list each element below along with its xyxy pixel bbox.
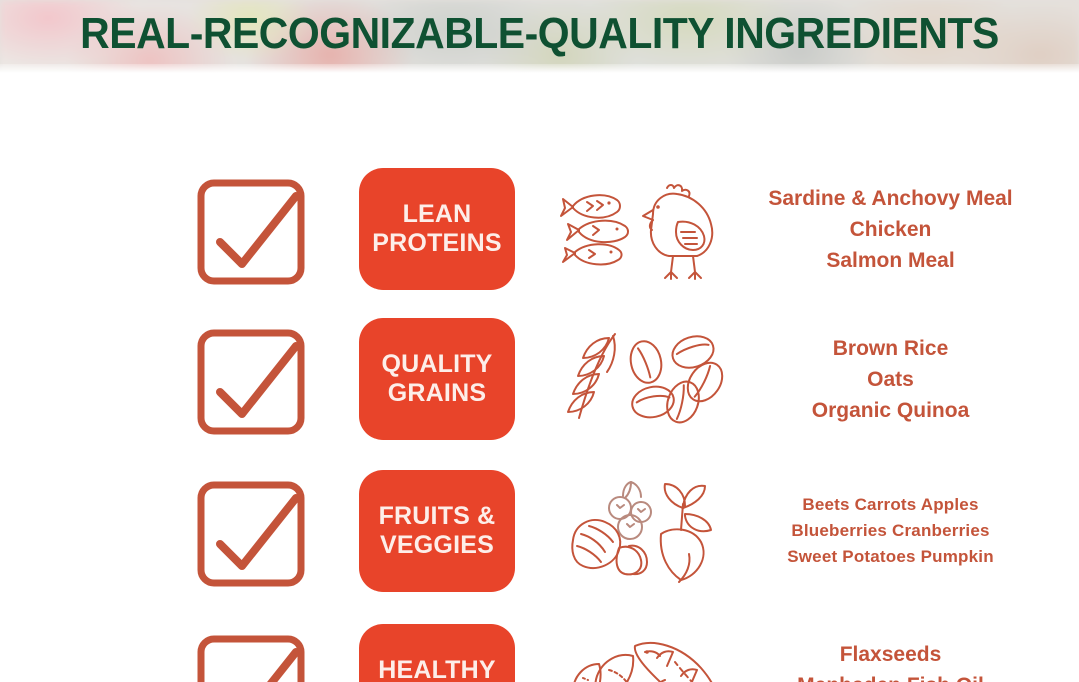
checkbox-cell: [192, 320, 352, 438]
category-badge-quality-grains: QUALITY GRAINS: [359, 318, 515, 440]
badge-line-1: LEAN: [372, 200, 501, 229]
ingredient-item: Chicken: [850, 214, 932, 245]
badge-line-1: FRUITS &: [379, 502, 496, 531]
badge-cell: HEALTHY FATS: [352, 624, 522, 682]
ingredient-item: Flaxseeds: [840, 639, 942, 670]
badge-cell: QUALITY GRAINS: [352, 318, 522, 440]
sweet-potato-blueberries-beet-icon: [557, 474, 737, 589]
checkmark-icon: [192, 170, 310, 288]
icon-cell: [552, 322, 742, 437]
ingredient-list-fruits-veggies: Beets Carrots Apples Blueberries Cranber…: [742, 492, 1079, 570]
badge-line-1: QUALITY: [381, 350, 492, 379]
ingredient-item: Organic Quinoa: [812, 395, 970, 426]
ingredient-list-lean-proteins: Sardine & Anchovy Meal Chicken Salmon Me…: [742, 183, 1079, 276]
icon-cell: [552, 474, 742, 589]
category-badge-healthy-fats: HEALTHY FATS: [359, 624, 515, 682]
badge-cell: LEAN PROTEINS: [352, 168, 522, 290]
header-fade-divider: [0, 64, 1079, 73]
category-badge-lean-proteins: LEAN PROTEINS: [359, 168, 515, 290]
ingredient-list-quality-grains: Brown Rice Oats Organic Quinoa: [742, 333, 1079, 426]
ingredient-item: Menhaden Fish Oil: [797, 670, 984, 682]
ingredient-item: Blueberries Cranberries: [791, 518, 989, 544]
ingredients-infographic: REAL-RECOGNIZABLE-QUALITY INGREDIENTS LE…: [0, 0, 1079, 682]
checkbox-cell: [192, 626, 352, 682]
row-quality-grains: QUALITY GRAINS: [0, 313, 1079, 445]
row-fruits-veggies: FRUITS & VEGGIES: [0, 465, 1079, 597]
wheat-and-grains-icon: [557, 322, 737, 437]
checkmark-icon: [192, 320, 310, 438]
checkbox-cell: [192, 170, 352, 288]
page-title: REAL-RECOGNIZABLE-QUALITY INGREDIENTS: [38, 8, 1041, 60]
icon-cell: [552, 172, 742, 287]
row-lean-proteins: LEAN PROTEINS: [0, 163, 1079, 295]
ingredient-list-healthy-fats: Flaxseeds Menhaden Fish Oil Eggs: [742, 639, 1079, 682]
ingredient-item: Sardine & Anchovy Meal: [768, 183, 1012, 214]
ingredient-item: Brown Rice: [833, 333, 949, 364]
checkmark-icon: [192, 626, 310, 682]
badge-line-1: HEALTHY: [378, 656, 496, 682]
badge-cell: FRUITS & VEGGIES: [352, 470, 522, 592]
header-banner: REAL-RECOGNIZABLE-QUALITY INGREDIENTS: [0, 0, 1079, 73]
row-healthy-fats: HEALTHY FATS: [0, 619, 1079, 682]
checkbox-cell: [192, 472, 352, 590]
ingredient-item: Oats: [867, 364, 914, 395]
fish-and-chicken-icon: [557, 172, 737, 287]
badge-line-2: VEGGIES: [379, 531, 496, 560]
flaxseed-and-fish-icon: [557, 628, 737, 682]
badge-line-2: PROTEINS: [372, 229, 501, 258]
ingredient-item: Beets Carrots Apples: [802, 492, 978, 518]
ingredient-item: Sweet Potatoes Pumpkin: [787, 544, 994, 570]
badge-line-2: GRAINS: [381, 379, 492, 408]
checkmark-icon: [192, 472, 310, 590]
icon-cell: [552, 628, 742, 682]
category-badge-fruits-veggies: FRUITS & VEGGIES: [359, 470, 515, 592]
ingredient-item: Salmon Meal: [826, 245, 954, 276]
